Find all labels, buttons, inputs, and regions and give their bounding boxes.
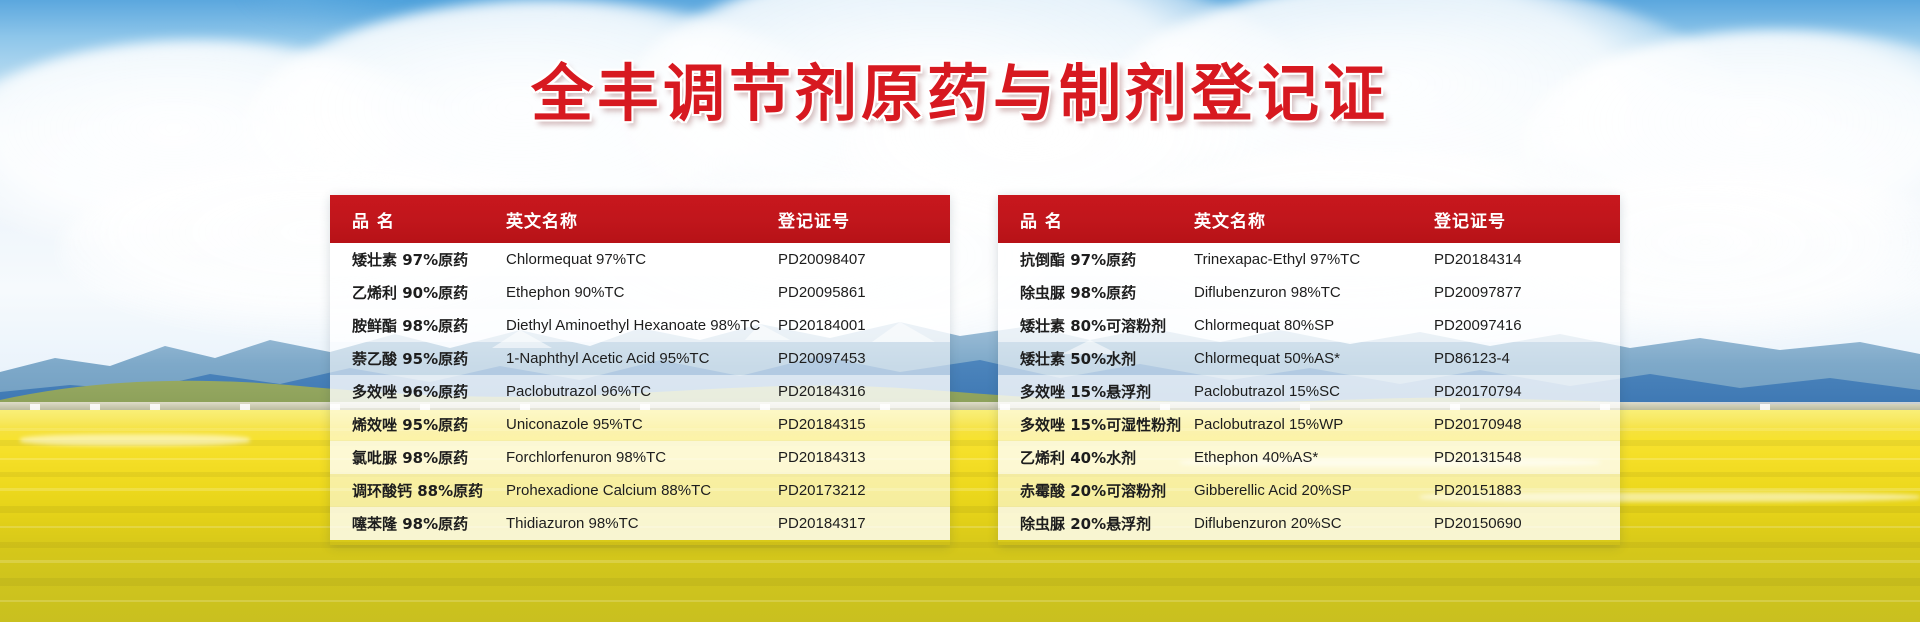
cell-reg-no: PD20095861 xyxy=(778,284,950,301)
cell-name: 矮壮素 50%水剂 xyxy=(998,348,1194,369)
cell-reg-no: PD20184314 xyxy=(1434,251,1620,268)
cell-english: Uniconazole 95%TC xyxy=(506,416,778,433)
table-left-body: 矮壮素 97%原药 Chlormequat 97%TC PD20098407 乙… xyxy=(330,243,950,540)
table-left: 品 名 英文名称 登记证号 矮壮素 97%原药 Chlormequat 97%T… xyxy=(330,195,950,545)
cell-english: Chlormequat 50%AS* xyxy=(1194,350,1434,367)
table-row: 烯效唑 95%原药 Uniconazole 95%TC PD20184315 xyxy=(330,408,950,441)
cell-english: Diflubenzuron 20%SC xyxy=(1194,515,1434,532)
table-row: 矮壮素 97%原药 Chlormequat 97%TC PD20098407 xyxy=(330,243,950,276)
cell-reg-no: PD20184316 xyxy=(778,383,950,400)
cell-reg-no: PD20170794 xyxy=(1434,383,1620,400)
cell-english: Forchlorfenuron 98%TC xyxy=(506,449,778,466)
cell-name: 乙烯利 40%水剂 xyxy=(998,447,1194,468)
cell-english: Prohexadione Calcium 88%TC xyxy=(506,482,778,499)
cell-name: 赤霉酸 20%可溶粉剂 xyxy=(998,480,1194,501)
cell-name: 乙烯利 90%原药 xyxy=(330,282,506,303)
table-row: 萘乙酸 95%原药 1-Naphthyl Acetic Acid 95%TC P… xyxy=(330,342,950,375)
table-right-header-row: 品 名 英文名称 登记证号 xyxy=(998,195,1620,243)
cell-english: Chlormequat 97%TC xyxy=(506,251,778,268)
table-row: 矮壮素 50%水剂 Chlormequat 50%AS* PD86123-4 xyxy=(998,342,1620,375)
cell-english: Gibberellic Acid 20%SP xyxy=(1194,482,1434,499)
field-white-patch xyxy=(20,434,250,446)
table-row: 抗倒酯 97%原药 Trinexapac-Ethyl 97%TC PD20184… xyxy=(998,243,1620,276)
cell-english: Chlormequat 80%SP xyxy=(1194,317,1434,334)
table-row: 噻苯隆 98%原药 Thidiazuron 98%TC PD20184317 xyxy=(330,507,950,540)
cell-english: Paclobutrazol 15%WP xyxy=(1194,416,1434,433)
cell-english: Diethyl Aminoethyl Hexanoate 98%TC xyxy=(506,317,778,334)
column-header-english: 英文名称 xyxy=(1194,207,1434,232)
registration-tables: 品 名 英文名称 登记证号 矮壮素 97%原药 Chlormequat 97%T… xyxy=(330,195,1620,545)
cell-reg-no: PD20151883 xyxy=(1434,482,1620,499)
cell-reg-no: PD20150690 xyxy=(1434,515,1620,532)
cell-reg-no: PD86123-4 xyxy=(1434,350,1620,367)
table-row: 多效唑 15%可湿性粉剂 Paclobutrazol 15%WP PD20170… xyxy=(998,408,1620,441)
table-row: 多效唑 15%悬浮剂 Paclobutrazol 15%SC PD2017079… xyxy=(998,375,1620,408)
cell-name: 矮壮素 80%可溶粉剂 xyxy=(998,315,1194,336)
cell-reg-no: PD20184313 xyxy=(778,449,950,466)
cell-reg-no: PD20131548 xyxy=(1434,449,1620,466)
cell-name: 烯效唑 95%原药 xyxy=(330,414,506,435)
cell-reg-no: PD20097453 xyxy=(778,350,950,367)
cell-name: 萘乙酸 95%原药 xyxy=(330,348,506,369)
cell-name: 多效唑 15%悬浮剂 xyxy=(998,381,1194,402)
table-row: 除虫脲 98%原药 Diflubenzuron 98%TC PD20097877 xyxy=(998,276,1620,309)
cell-name: 抗倒酯 97%原药 xyxy=(998,249,1194,270)
cell-reg-no: PD20173212 xyxy=(778,482,950,499)
cell-name: 矮壮素 97%原药 xyxy=(330,249,506,270)
table-row: 矮壮素 80%可溶粉剂 Chlormequat 80%SP PD20097416 xyxy=(998,309,1620,342)
cell-reg-no: PD20184317 xyxy=(778,515,950,532)
cell-name: 氯吡脲 98%原药 xyxy=(330,447,506,468)
cell-english: Diflubenzuron 98%TC xyxy=(1194,284,1434,301)
cell-english: Ethephon 40%AS* xyxy=(1194,449,1434,466)
table-right-body: 抗倒酯 97%原药 Trinexapac-Ethyl 97%TC PD20184… xyxy=(998,243,1620,540)
table-row: 乙烯利 40%水剂 Ethephon 40%AS* PD20131548 xyxy=(998,441,1620,474)
cell-english: Thidiazuron 98%TC xyxy=(506,515,778,532)
column-header-name: 品 名 xyxy=(330,207,506,232)
cell-english: Trinexapac-Ethyl 97%TC xyxy=(1194,251,1434,268)
table-right: 品 名 英文名称 登记证号 抗倒酯 97%原药 Trinexapac-Ethyl… xyxy=(998,195,1620,545)
cell-name: 除虫脲 98%原药 xyxy=(998,282,1194,303)
cell-reg-no: PD20098407 xyxy=(778,251,950,268)
table-row: 乙烯利 90%原药 Ethephon 90%TC PD20095861 xyxy=(330,276,950,309)
cell-reg-no: PD20184315 xyxy=(778,416,950,433)
cell-reg-no: PD20097877 xyxy=(1434,284,1620,301)
cell-english: Paclobutrazol 15%SC xyxy=(1194,383,1434,400)
table-row: 除虫脲 20%悬浮剂 Diflubenzuron 20%SC PD2015069… xyxy=(998,507,1620,540)
cell-english: Ethephon 90%TC xyxy=(506,284,778,301)
column-header-english: 英文名称 xyxy=(506,207,778,232)
table-row: 氯吡脲 98%原药 Forchlorfenuron 98%TC PD201843… xyxy=(330,441,950,474)
cell-reg-no: PD20097416 xyxy=(1434,317,1620,334)
column-header-reg-no: 登记证号 xyxy=(778,207,950,232)
cell-reg-no: PD20184001 xyxy=(778,317,950,334)
column-header-reg-no: 登记证号 xyxy=(1434,207,1620,232)
table-row: 调环酸钙 88%原药 Prohexadione Calcium 88%TC PD… xyxy=(330,474,950,507)
cell-name: 胺鲜酯 98%原药 xyxy=(330,315,506,336)
cell-name: 调环酸钙 88%原药 xyxy=(330,480,506,501)
table-row: 多效唑 96%原药 Paclobutrazol 96%TC PD20184316 xyxy=(330,375,950,408)
cell-name: 多效唑 15%可湿性粉剂 xyxy=(998,414,1194,435)
table-row: 赤霉酸 20%可溶粉剂 Gibberellic Acid 20%SP PD201… xyxy=(998,474,1620,507)
cell-name: 多效唑 96%原药 xyxy=(330,381,506,402)
column-header-name: 品 名 xyxy=(998,207,1194,232)
cell-english: 1-Naphthyl Acetic Acid 95%TC xyxy=(506,350,778,367)
table-left-header-row: 品 名 英文名称 登记证号 xyxy=(330,195,950,243)
cell-english: Paclobutrazol 96%TC xyxy=(506,383,778,400)
page-title: 全丰调节剂原药与制剂登记证 xyxy=(0,58,1920,130)
table-row: 胺鲜酯 98%原药 Diethyl Aminoethyl Hexanoate 9… xyxy=(330,309,950,342)
cell-name: 噻苯隆 98%原药 xyxy=(330,513,506,534)
cell-name: 除虫脲 20%悬浮剂 xyxy=(998,513,1194,534)
cell-reg-no: PD20170948 xyxy=(1434,416,1620,433)
